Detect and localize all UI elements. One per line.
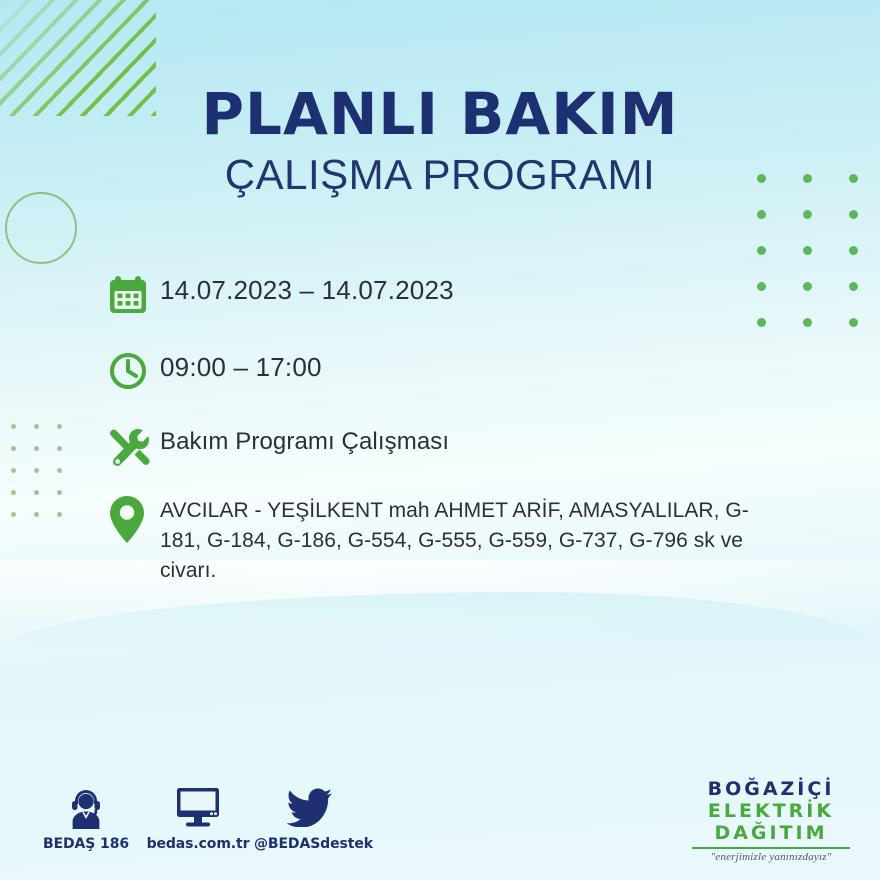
monitor-icon	[142, 782, 254, 832]
tools-icon	[108, 425, 160, 475]
maintenance-work-type: Bakım Programı Çalışması	[160, 425, 449, 456]
footer-contacts: BEDAŞ 186 bedas.com.tr	[30, 782, 366, 852]
contact-twitter[interactable]: @BEDASdestek	[254, 782, 366, 852]
maintenance-location: AVCILAR - YEŞİLKENT mah AHMET ARİF, AMAS…	[160, 493, 760, 585]
logo-line-elektrik: ELEKTRİK	[686, 800, 856, 822]
page-title: PLANLI BAKIM	[0, 84, 880, 145]
poster-header: PLANLI BAKIM ÇALIŞMA PROGRAMI	[0, 84, 880, 199]
contact-website[interactable]: bedas.com.tr	[142, 782, 254, 852]
logo-line-dagitim: DAĞITIM	[686, 822, 856, 844]
logo-line-bogazici: BOĞAZİÇİ	[686, 778, 856, 800]
bedas-logo: BOĞAZİÇİ ELEKTRİK DAĞITIM "enerjimizle y…	[686, 778, 856, 863]
detail-row-work-type: Bakım Programı Çalışması	[108, 425, 808, 475]
dot-grid-left-decoration	[0, 424, 80, 534]
maintenance-date-range: 14.07.2023 – 14.07.2023	[160, 272, 454, 306]
maintenance-details: 14.07.2023 – 14.07.2023 09:00 – 17:00	[108, 272, 808, 605]
circle-outline-decoration	[5, 192, 77, 264]
logo-divider	[692, 847, 850, 849]
maintenance-time-range: 09:00 – 17:00	[160, 349, 322, 383]
twitter-bird-icon	[254, 782, 366, 832]
detail-row-location: AVCILAR - YEŞİLKENT mah AHMET ARİF, AMAS…	[108, 493, 808, 585]
contact-call-center-label: BEDAŞ 186	[30, 836, 142, 852]
map-pin-icon	[108, 493, 160, 543]
headset-agent-icon	[30, 782, 142, 832]
contact-call-center[interactable]: BEDAŞ 186	[30, 782, 142, 852]
contact-twitter-label: @BEDASdestek	[254, 836, 366, 852]
contact-website-label: bedas.com.tr	[142, 836, 254, 852]
detail-row-date: 14.07.2023 – 14.07.2023	[108, 272, 808, 322]
calendar-icon	[108, 272, 160, 322]
clock-icon	[108, 349, 160, 399]
planned-maintenance-poster: PLANLI BAKIM ÇALIŞMA PROGRAMI	[0, 0, 880, 880]
page-subtitle: ÇALIŞMA PROGRAMI	[0, 151, 880, 198]
logo-tagline: "enerjimizle yanınızdayız"	[686, 851, 856, 863]
detail-row-time: 09:00 – 17:00	[108, 349, 808, 399]
